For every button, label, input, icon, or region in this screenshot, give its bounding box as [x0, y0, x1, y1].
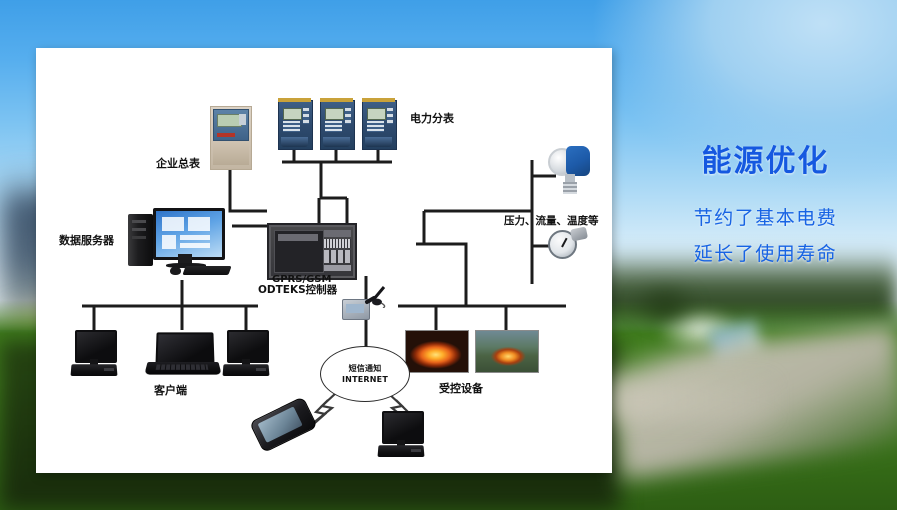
remote-pc-icon — [376, 411, 426, 459]
client-laptop-icon — [146, 332, 220, 378]
enterprise-meter-icon — [210, 106, 252, 170]
node-odteks-controller[interactable] — [267, 223, 357, 280]
node-furnace-2[interactable] — [475, 330, 539, 373]
headline-bullet-1: 节约了基本电费 — [634, 200, 897, 236]
label-enterprise-meter: 企业总表 — [156, 155, 200, 171]
node-furnace-1[interactable] — [405, 330, 469, 373]
label-gprs-gsm: GPRS/GSM — [272, 274, 331, 285]
background-path-near — [612, 380, 772, 420]
gprs-modem-icon — [342, 286, 390, 320]
headline-block: 能源优化 节约了基本电费 延长了使用寿命 — [634, 140, 897, 272]
foundry-photo-icon — [475, 330, 539, 373]
label-clients: 客户端 — [154, 382, 187, 398]
label-controlled-equipment: 受控设备 — [439, 380, 483, 396]
label-sensors: 压力、流量、温度等 — [504, 213, 599, 228]
client-pc-icon — [69, 330, 119, 378]
node-client-pc-2[interactable] — [221, 330, 271, 378]
power-submeter-icon — [278, 100, 313, 150]
power-submeter-icon — [320, 100, 355, 150]
node-power-submeter-3[interactable] — [362, 100, 397, 150]
power-submeter-icon — [362, 100, 397, 150]
diagram-panel: 企业总表 电力分表 — [36, 48, 612, 473]
cloud-label-internet: INTERNET — [342, 374, 388, 385]
furnace-photo-icon — [405, 330, 469, 373]
node-enterprise-meter[interactable] — [210, 106, 252, 170]
node-client-pc-1[interactable] — [69, 330, 119, 378]
node-internet-cloud[interactable]: 短信通知 INTERNET — [320, 346, 410, 402]
cloud-label-sms: 短信通知 — [349, 363, 382, 374]
slide-canvas: 企业总表 电力分表 — [0, 0, 897, 510]
data-server-icon — [128, 208, 232, 278]
node-pressure-gauge[interactable] — [548, 226, 592, 260]
label-power-submeters: 电力分表 — [410, 110, 454, 126]
node-power-submeter-1[interactable] — [278, 100, 313, 150]
headline-title: 能源优化 — [634, 140, 897, 184]
node-remote-pc[interactable] — [376, 411, 426, 459]
node-pressure-transmitter[interactable] — [548, 146, 590, 204]
pressure-gauge-icon — [548, 226, 592, 260]
node-mobile-phone[interactable] — [254, 408, 312, 444]
node-client-laptop[interactable] — [146, 332, 220, 378]
odteks-controller-icon — [267, 223, 357, 280]
label-data-server: 数据服务器 — [59, 232, 114, 248]
node-gprs-modem[interactable] — [342, 286, 390, 320]
client-pc-icon — [221, 330, 271, 378]
pressure-transmitter-icon — [548, 146, 590, 204]
background-bush — [620, 275, 710, 335]
antenna-icon — [364, 286, 388, 308]
node-power-submeter-2[interactable] — [320, 100, 355, 150]
headline-bullet-2: 延长了使用寿命 — [634, 236, 897, 272]
node-data-server[interactable] — [128, 208, 232, 278]
